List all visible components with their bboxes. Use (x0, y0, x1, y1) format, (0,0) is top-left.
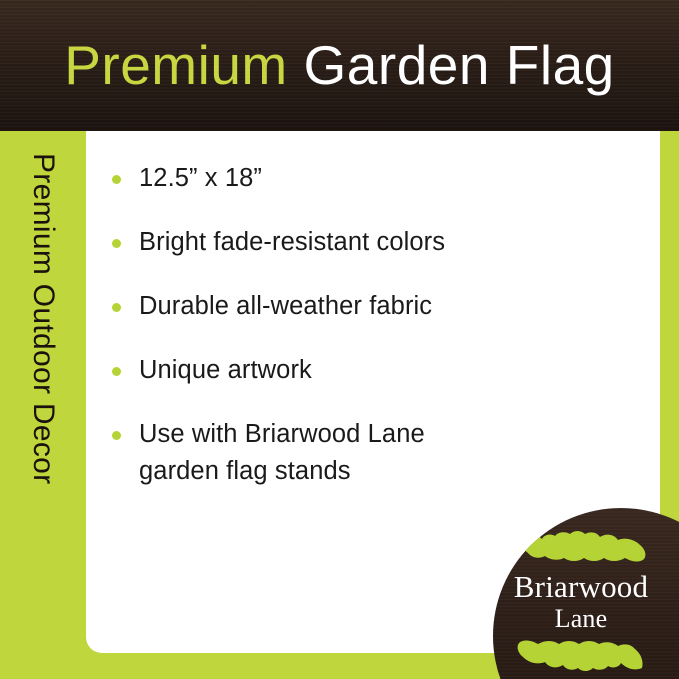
bullet-dot-icon (112, 367, 121, 376)
list-item-label-continued: garden flag stands (139, 453, 580, 490)
list-item-label: Bright fade-resistant colors (139, 224, 580, 261)
list-item: Bright fade-resistant colors (110, 224, 580, 261)
brand-logo-badge: Briarwood Lane (493, 508, 679, 679)
page-title-highlight: Premium (64, 34, 288, 96)
sidebar-vertical-label: Premium Outdoor Decor (0, 131, 86, 679)
list-item: Durable all-weather fabric (110, 288, 580, 325)
bullet-dot-icon (112, 303, 121, 312)
bullet-dot-icon (112, 431, 121, 440)
list-item-label: 12.5” x 18” (139, 160, 580, 197)
header-banner: Premium Garden Flag (0, 0, 679, 131)
page-title-rest: Garden Flag (288, 34, 615, 96)
list-item-label: Durable all-weather fabric (139, 288, 580, 325)
brand-wordmark: Briarwood Lane (493, 570, 669, 634)
leaf-icon (515, 636, 645, 672)
brand-name-line1: Briarwood (493, 570, 669, 604)
sidebar-rail: Premium Outdoor Decor (0, 131, 86, 679)
list-item-label: Unique artwork (139, 352, 580, 389)
brand-name-line2: Lane (493, 604, 669, 634)
list-item: 12.5” x 18” (110, 160, 580, 197)
bullet-dot-icon (112, 175, 121, 184)
feature-list: 12.5” x 18” Bright fade-resistant colors… (110, 160, 580, 490)
list-item: Use with Briarwood Lane garden flag stan… (110, 416, 580, 490)
list-item-label: Use with Briarwood Lane (139, 416, 580, 453)
page-title: Premium Garden Flag (0, 26, 679, 104)
bullet-dot-icon (112, 239, 121, 248)
list-item: Unique artwork (110, 352, 580, 389)
leaf-icon (518, 530, 648, 566)
product-feature-card: Premium Garden Flag Premium Outdoor Deco… (0, 0, 679, 679)
